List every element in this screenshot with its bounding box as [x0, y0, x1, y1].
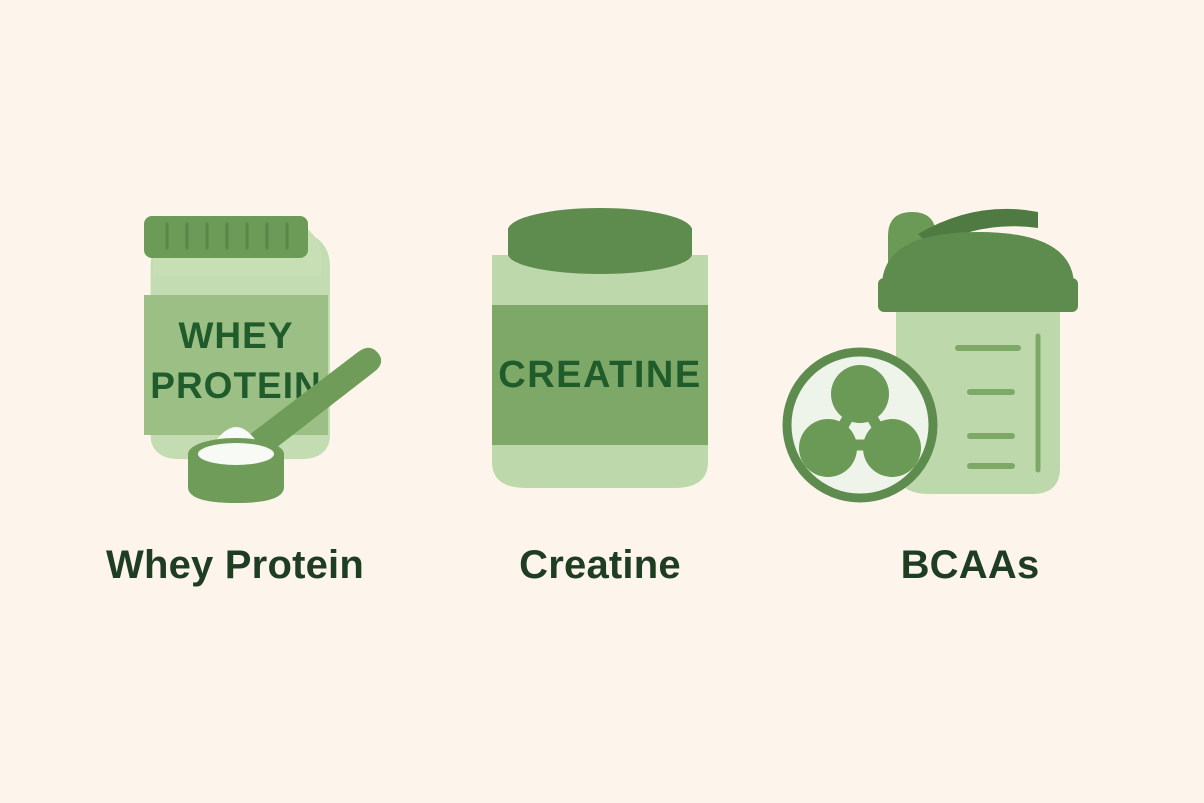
- product-card-bcaas[interactable]: BCAAs: [770, 0, 1170, 803]
- creatine-jar-icon: CREATINE: [430, 0, 770, 530]
- jar-label-text: CREATINE: [498, 354, 701, 396]
- product-caption-bcaas: BCAAs: [770, 543, 1170, 588]
- product-card-whey-protein[interactable]: WHEY PROTEIN Whey Protei: [40, 0, 430, 803]
- whey-protein-tub-with-scoop-icon: WHEY PROTEIN: [40, 0, 430, 530]
- product-caption-creatine: Creatine: [430, 543, 770, 588]
- molecule-atom-top: [831, 365, 889, 423]
- shaker-lid-collar: [878, 278, 1078, 312]
- product-caption-whey-protein: Whey Protein: [40, 543, 430, 588]
- shaker-bottle-with-molecule-icon: [770, 0, 1170, 530]
- molecule-atom-left: [799, 419, 857, 477]
- scoop-rim-inner: [198, 443, 274, 465]
- illustration-canvas: WHEY PROTEIN Whey Protei: [0, 0, 1204, 803]
- tub-label-line-1: WHEY: [179, 315, 294, 356]
- molecule-atom-right: [863, 419, 921, 477]
- jar-lid-bottom: [508, 234, 692, 274]
- product-card-creatine[interactable]: CREATINE Creatine: [430, 0, 770, 803]
